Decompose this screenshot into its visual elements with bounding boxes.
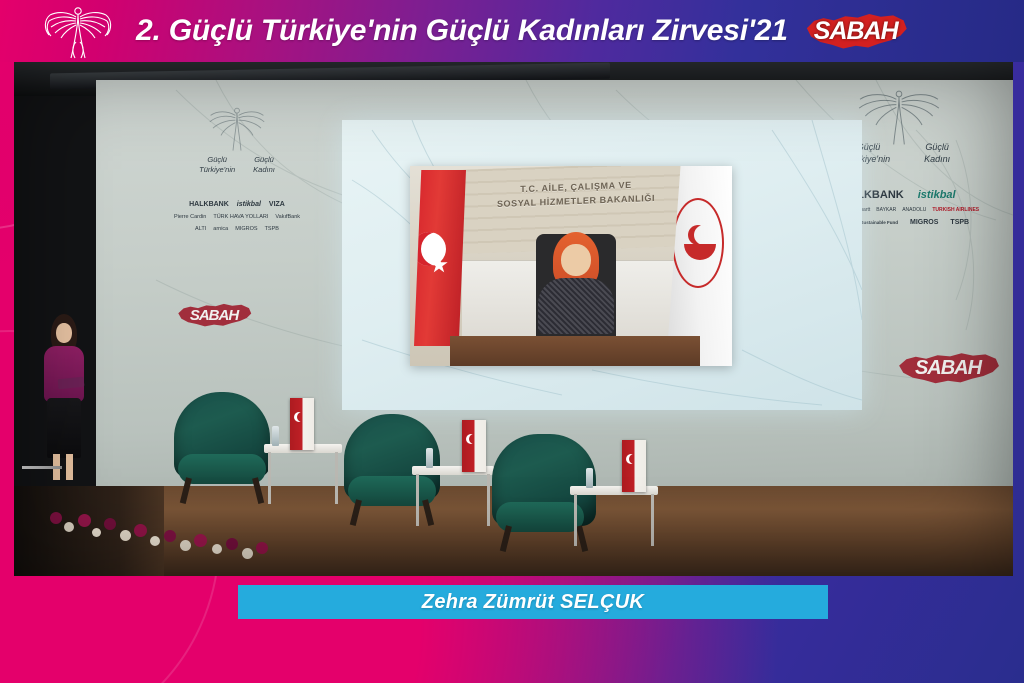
side-table [412,466,494,528]
side-table-leg [574,494,577,546]
sponsor-logo: HALKBANK [189,201,229,208]
sabah-wordmark: SABAH [804,8,908,54]
side-table [570,486,658,550]
floral-arrangement-icon [34,484,284,576]
sabah-wordmark: SABAH [896,348,1000,388]
broadcast-header: 2. Güçlü Türkiye'nin Güçlü Kadınları Zir… [0,0,1024,62]
backdrop-left-brand-block: Güçlü Türkiye'nin Güçlü Kadını HALKBANK … [142,104,332,232]
sponsor-logo: MIGROS [910,219,938,226]
sponsor-logo: ANADOLU [902,207,926,213]
tweed-jacket [538,278,614,334]
hands-icon [684,244,716,260]
water-bottle-icon [426,448,433,468]
sponsor-logo: ALTI [195,226,206,232]
backdrop-left-brand-line2: Güçlü [254,155,274,164]
turkish-flag-desk-stand-icon [462,420,486,472]
water-bottle-icon [586,468,593,488]
butterfly-woman-logo-icon [201,104,273,154]
sabah-network-logo: SABAH [804,8,908,54]
sponsor-logo: TÜRK HAVA YOLLARI [213,214,268,220]
lower-third-name-banner: Zehra Zümrüt SELÇUK [238,585,828,619]
turkish-flag-desk-stand-icon [290,398,314,450]
crescent-icon [688,225,708,245]
turkish-flag-desk-stand-icon [622,440,646,492]
broadcast-frame: 2. Güçlü Türkiye'nin Güçlü Kadınları Zir… [0,0,1024,683]
side-table-leg [487,474,490,526]
sponsor-logo: BAYKAR [876,207,896,213]
seated-speaker-icon [528,226,624,338]
sponsor-logo: Pierre Cardin [174,214,206,220]
page-title: 2. Güçlü Türkiye'nin Güçlü Kadınları Zir… [136,14,788,48]
backdrop-right-sabah-logo: SABAH [896,348,1000,388]
turkish-flag-icon [414,170,466,346]
ministry-emblem-icon [672,198,724,288]
sponsor-logo: VIZA [269,201,285,208]
blouse [44,346,84,402]
sponsor-logo: TURKISH AIRLINES [932,207,979,213]
crescent-icon [294,412,304,422]
backdrop-right-brand-line4: Kadını [924,154,950,164]
conference-hall-scene: Güçlü Türkiye'nin Güçlü Kadını HALKBANK … [14,62,1013,576]
backdrop-left-brand-line1: Güçlü [207,155,227,164]
armchair [174,392,270,478]
butterfly-woman-logo-icon [38,2,118,60]
side-table-leg [651,494,654,546]
crescent-icon [466,434,476,444]
backdrop-left-brand-line3: Türkiye'nin [199,165,235,174]
water-bottle-icon [272,426,279,446]
video-player-surface[interactable]: Güçlü Türkiye'nin Güçlü Kadını HALKBANK … [14,62,1013,576]
sponsor-logo: MIGROS [235,226,257,232]
feed-desk [450,336,700,366]
backdrop-left-sabah-logo: SABAH [176,300,252,330]
sponsor-logo: istikbal [237,201,261,208]
face [56,323,72,343]
skirt [47,398,81,458]
backdrop-left-brand-line4: Kadını [253,165,275,174]
sponsor-logo: TSPB [950,219,969,226]
crescent-icon [626,454,636,464]
leg [66,454,73,480]
side-table-leg [335,452,338,504]
sabah-wordmark: SABAH [176,300,252,330]
sponsor-logo: istikbal [918,189,956,201]
sponsor-logo: VakıfBank [275,214,300,220]
side-table-leg [416,474,419,526]
standing-host-presenter-icon [36,314,90,484]
sponsor-logo: TSPB [265,226,279,232]
video-feed-remote-speaker: T.C. AİLE, ÇALIŞMA VE SOSYAL HİZMETLER B… [410,166,732,366]
microphone-stand-icon [22,466,62,469]
sponsor-logo: arnica [213,226,228,232]
face [561,244,591,276]
sponsor-logo: Sustainable Fund [861,220,899,225]
speaker-name: Zehra Zümrüt SELÇUK [422,591,644,614]
projection-screen: T.C. AİLE, ÇALIŞMA VE SOSYAL HİZMETLER B… [342,120,862,410]
